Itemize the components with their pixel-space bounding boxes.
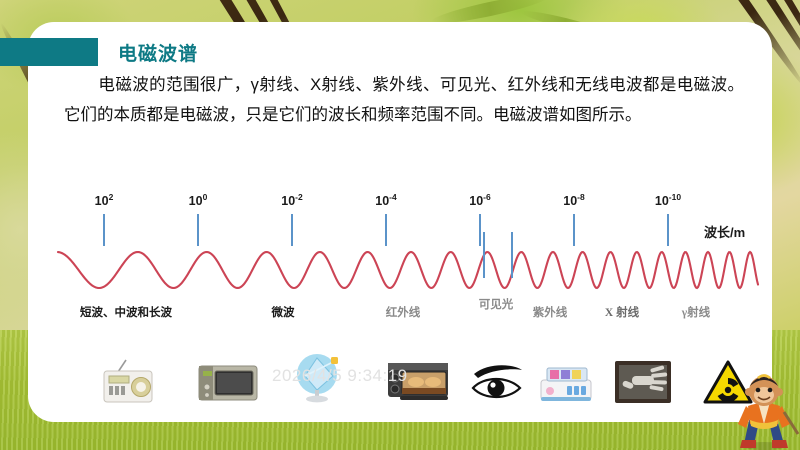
spectrum-region-label: 短波、中波和长波 — [80, 304, 172, 320]
axis-tick-label: 100 — [189, 192, 208, 208]
axis-tick-label: 10-8 — [563, 192, 584, 208]
axis-tick-label: 10-4 — [375, 192, 396, 208]
title-accent-bar — [0, 38, 98, 66]
spectrum-wave — [28, 242, 772, 302]
spectrum-region-label: 紫外线 — [533, 304, 568, 320]
content-card: 电磁波谱 电磁波的范围很广，γ射线、X射线、紫外线、可见光、红外线和无线电波都是… — [28, 22, 772, 422]
paragraph-text: 电磁波的范围很广，γ射线、X射线、紫外线、可见光、红外线和无线电波都是电磁波。它… — [64, 76, 744, 124]
spectrum-region-label: γ射线 — [682, 304, 710, 320]
uv-lamp-icon — [537, 364, 595, 409]
monkey-king-mascot — [728, 372, 800, 450]
axis-tick-label: 10-2 — [281, 192, 302, 208]
axis-tick-label: 10-10 — [655, 192, 681, 208]
microwave-icon — [197, 360, 259, 409]
spectrum-region-label: X 射线 — [605, 304, 639, 320]
axis-tick-label: 102 — [95, 192, 114, 208]
radio-icon — [100, 358, 156, 409]
slide-title-bar: 电磁波谱 — [0, 38, 198, 66]
spectrum-region-label: 微波 — [272, 304, 295, 320]
spectrum-region-label: 可见光 — [479, 296, 514, 312]
body-paragraph: 电磁波的范围很广，γ射线、X射线、紫外线、可见光、红外线和无线电波都是电磁波。它… — [64, 70, 744, 130]
xray-image-icon — [614, 360, 672, 409]
visible-light-marker — [483, 232, 485, 278]
axis-tick-label: 10-6 — [469, 192, 490, 208]
spectrum-figure: 10210010-210-410-610-810-10 短波、中波和长波微波红外… — [28, 192, 772, 352]
timestamp-watermark: 2026/4/5 9:34:19 — [272, 366, 408, 386]
eye-icon — [470, 364, 526, 409]
page-title: 电磁波谱 — [118, 39, 198, 66]
spectrum-region-label: 红外线 — [386, 304, 421, 320]
axis-label-wavelength: 波长/m — [704, 222, 745, 241]
visible-light-marker — [511, 232, 513, 278]
